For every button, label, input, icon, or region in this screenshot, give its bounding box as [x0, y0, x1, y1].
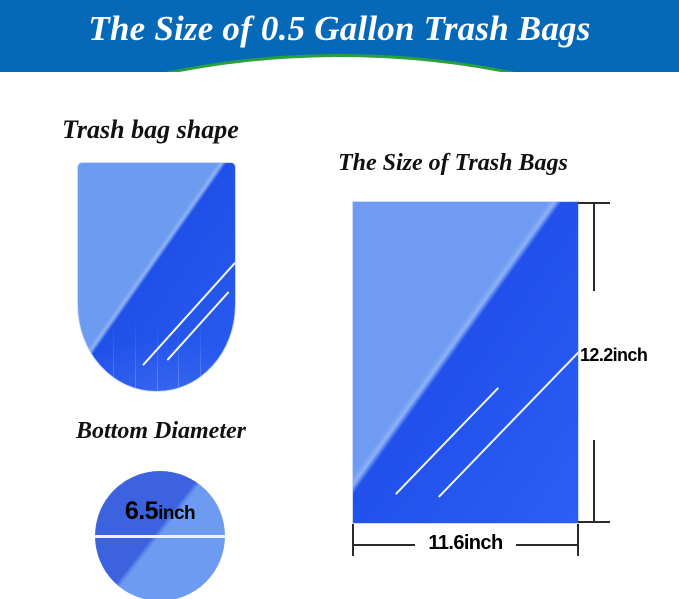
bag-crease [157, 317, 158, 391]
trash-bag-rectangle-illustration [353, 202, 578, 523]
height-measurement-label: 12.2inch [580, 345, 647, 366]
diameter-line [95, 535, 225, 538]
diameter-measurement-label: 6.5inch [95, 497, 225, 526]
bag-crease [113, 317, 114, 391]
height-dimension-cap-bottom [578, 521, 610, 523]
height-dimension-line-lower [593, 440, 595, 523]
bag-crease [135, 317, 136, 391]
bag-highlight-streak [395, 387, 499, 495]
page-title: The Size of 0.5 Gallon Trash Bags [0, 9, 679, 49]
heading-trash-bag-size: The Size of Trash Bags [338, 150, 568, 177]
infographic-canvas: The Size of 0.5 Gallon Trash Bags Trash … [0, 0, 679, 599]
width-measurement-label: 11.6inch [353, 532, 578, 555]
bag-highlight-streak [438, 338, 578, 498]
header-white-arc [0, 57, 679, 72]
diameter-unit: inch [158, 503, 195, 524]
bottom-diameter-circle [95, 471, 225, 599]
heading-bottom-diameter: Bottom Diameter [76, 418, 246, 445]
bag-crease [200, 317, 201, 391]
bag-crease [178, 317, 179, 391]
height-dimension-line-upper [593, 204, 595, 291]
diameter-value: 6.5 [125, 497, 158, 525]
trash-bag-shape-illustration [78, 163, 235, 391]
heading-trash-bag-shape: Trash bag shape [62, 115, 239, 145]
